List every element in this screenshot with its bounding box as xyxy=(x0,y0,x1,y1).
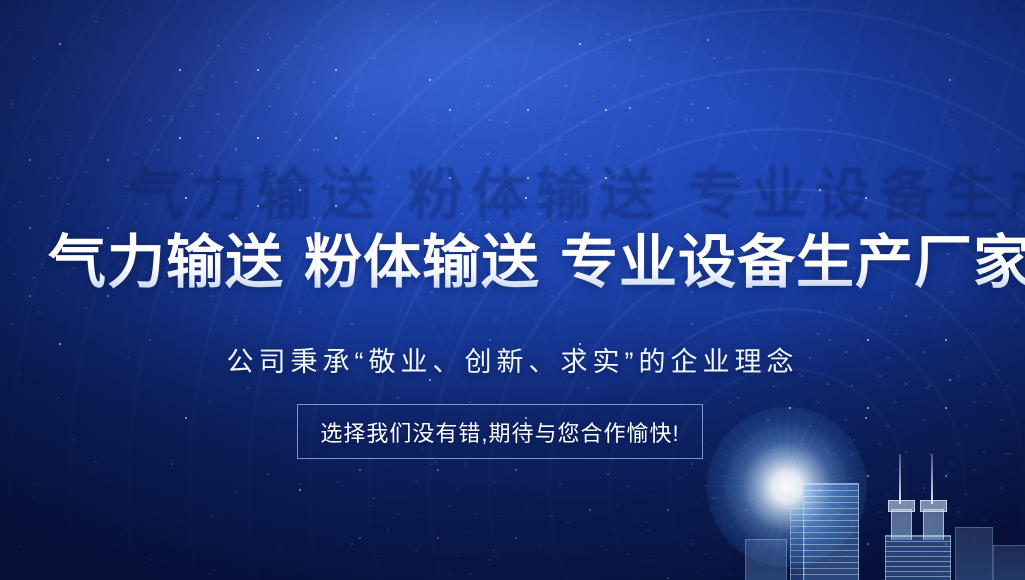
skyline-building xyxy=(993,545,1025,580)
headline-part-1: 气力输送 xyxy=(48,230,284,295)
hero-banner: 气力输送 粉体输送 专业设备生产厂家 气力输送粉体输送专业设备生产厂家 公司秉承… xyxy=(0,0,1025,580)
ghost-watermark-text: 气力输送 粉体输送 专业设备生产厂家 xyxy=(128,150,908,231)
headline-part-2: 粉体输送 xyxy=(304,230,540,295)
skyline-tower-base xyxy=(885,535,951,580)
tagline-box[interactable]: 选择我们没有错,期待与您合作愉快! xyxy=(297,404,703,459)
skyline-twin-spire-tower xyxy=(885,456,949,580)
tagline-text: 选择我们没有错,期待与您合作愉快! xyxy=(320,416,679,448)
skyline-spire xyxy=(931,454,933,504)
headline-part-3: 专业设备生产厂家 xyxy=(560,230,1025,295)
skyline-building xyxy=(745,539,787,580)
banner-headline: 气力输送粉体输送专业设备生产厂家 xyxy=(48,232,1025,295)
skyline-ribbed-tower xyxy=(803,483,859,580)
city-skyline-silhouette xyxy=(745,450,1025,580)
skyline-building xyxy=(955,527,993,580)
banner-subtitle: 公司秉承“敬业、创新、求实”的企业理念 xyxy=(0,340,1025,379)
skyline-spire xyxy=(899,454,901,504)
